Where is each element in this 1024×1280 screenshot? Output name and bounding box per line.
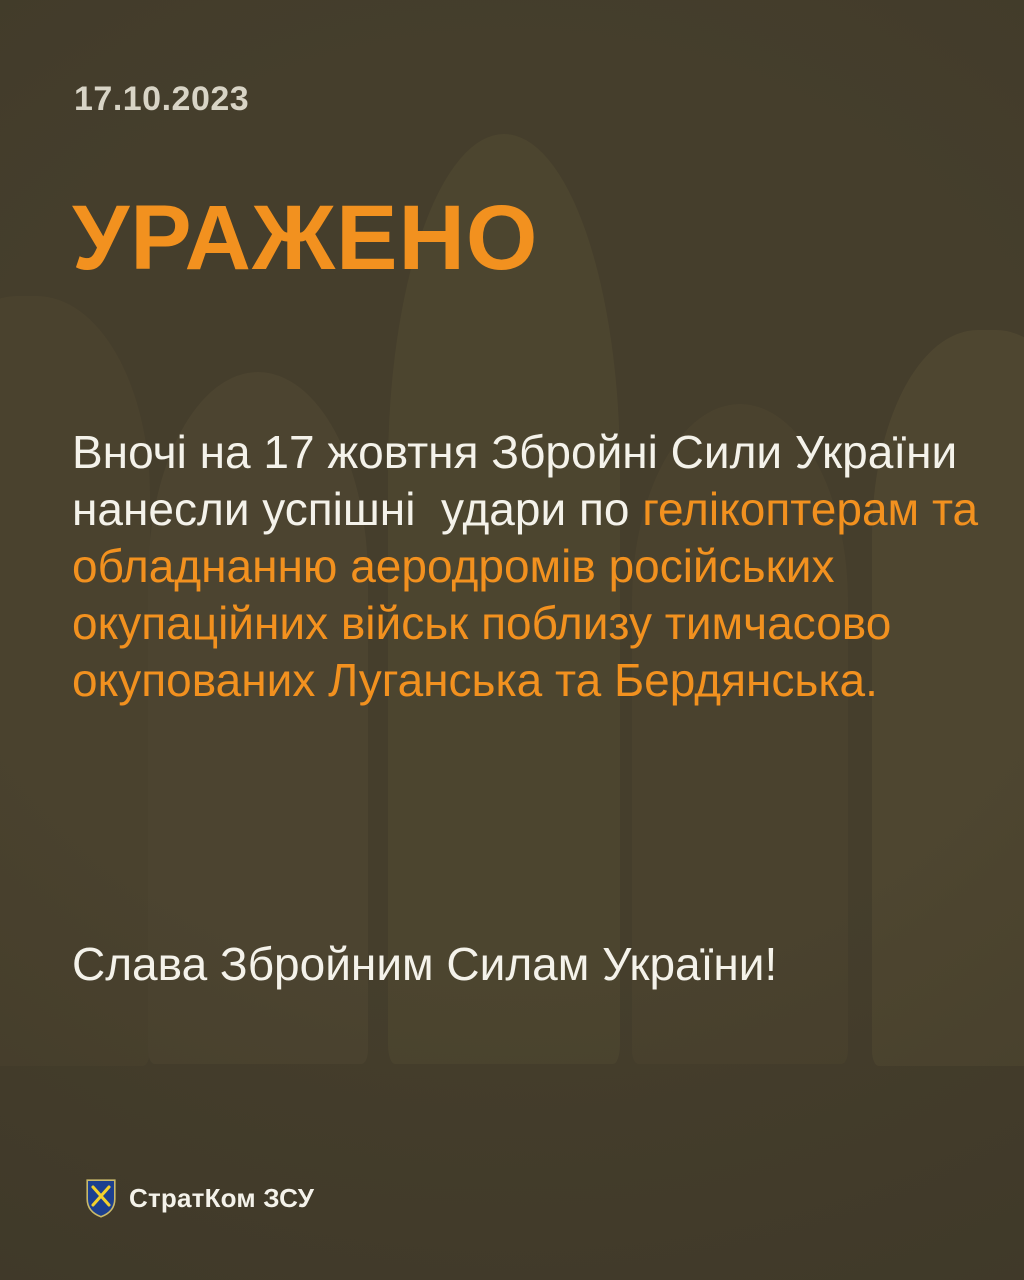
poster-content: 17.10.2023 УРАЖЕНО Вночі на 17 жовтня Зб… <box>0 0 1024 1280</box>
stratcom-shield-emblem <box>86 1179 116 1218</box>
poster-canvas: 17.10.2023 УРАЖЕНО Вночі на 17 жовтня Зб… <box>0 0 1024 1280</box>
footer-branding: СтратКом ЗСУ <box>86 1179 314 1218</box>
slogan-text: Слава Збройним Силам України! <box>72 936 984 993</box>
footer-label: СтратКом ЗСУ <box>129 1183 314 1214</box>
page-title: УРАЖЕНО <box>72 192 538 284</box>
publication-date: 17.10.2023 <box>74 80 249 119</box>
announcement-body: Вночі на 17 жовтня Збройні Сили України … <box>72 424 984 709</box>
